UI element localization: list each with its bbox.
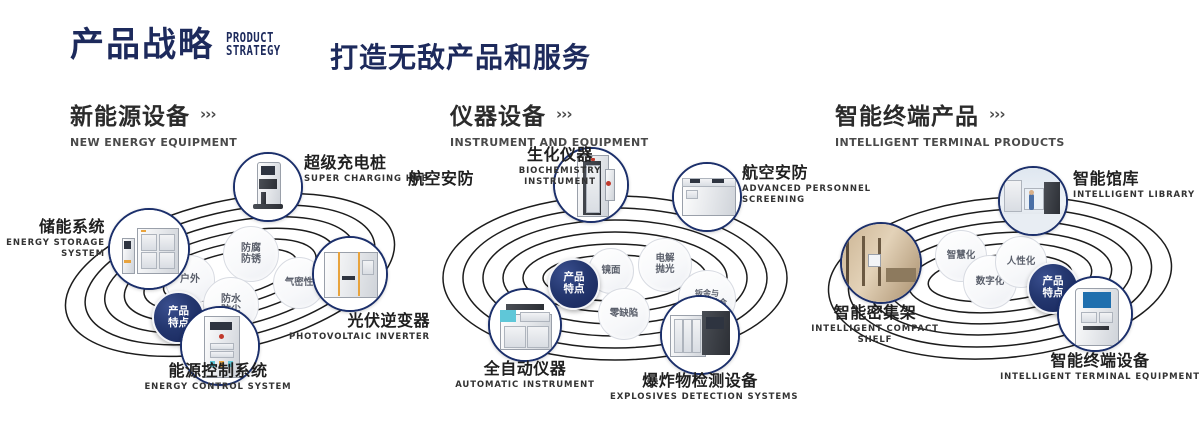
page-title-cn: 产品战略 <box>70 28 214 62</box>
section-title-cn: 智能终端产品 ››› <box>835 97 1065 131</box>
chevron-right-icon: ››› <box>200 105 216 123</box>
energy-storage-cabinet-icon <box>110 210 188 288</box>
feature-bubble-anticorrosion: 防腐 防锈 <box>223 226 279 282</box>
node-photovoltaic-inverter[interactable] <box>312 236 388 312</box>
page-title-en-line2: STRATEGY <box>226 45 281 58</box>
charging-pile-icon <box>235 154 301 220</box>
section-title-instrument: 仪器设备 ››› INSTRUMENT AND EQUIPMENT <box>450 97 649 149</box>
smart-library-icon <box>1000 168 1066 234</box>
node-automatic-instrument[interactable] <box>488 288 562 362</box>
page-title-en: PRODUCT STRATEGY <box>226 32 281 58</box>
self-service-kiosk-icon <box>1059 278 1131 350</box>
node-energy-storage-system[interactable] <box>108 208 190 290</box>
node-intelligent-compact-shelf[interactable] <box>840 222 922 304</box>
node-super-charging-hub[interactable] <box>233 152 303 222</box>
section-title-en: NEW ENERGY EQUIPMENT <box>70 136 237 149</box>
section-title-cn: 仪器设备 ››› <box>450 97 649 131</box>
chevron-right-icon: ››› <box>989 105 1005 123</box>
feature-bubble-zero-defect: 零缺陷 <box>598 288 650 340</box>
node-label-intelligent-terminal-equipment: 智能终端设备 INTELLIGENT TERMINAL EQUIPMENT <box>995 352 1200 383</box>
node-label-photovoltaic-inverter: 光伏逆变器 PHOTOVOLTAIC INVERTER <box>270 312 430 343</box>
cluster-new-energy: 户外 防腐 防锈 防水 防尘 气密性 产品 特点 <box>40 150 420 400</box>
cluster-intelligent-terminal: 智慧化 数字化 人性化 产品 特点 智能馆库 <box>805 150 1195 400</box>
node-label-energy-control-system: 能源控制系统 ENERGY CONTROL SYSTEM <box>80 362 356 393</box>
section-title-intelligent-terminal: 智能终端产品 ››› INTELLIGENT TERMINAL PRODUCTS <box>835 97 1065 149</box>
section-title-cn: 新能源设备 ››› <box>70 97 237 131</box>
automatic-instrument-icon <box>490 290 560 360</box>
node-label-explosives-detection-systems: 爆炸物检测设备 EXPLOSIVES DETECTION SYSTEMS <box>610 372 790 403</box>
chevron-right-icon: ››› <box>556 105 572 123</box>
explosives-detector-icon <box>662 297 738 373</box>
node-intelligent-terminal-equipment[interactable] <box>1057 276 1133 352</box>
node-advanced-personnel-screening[interactable] <box>672 162 742 232</box>
cluster-instrument: 镜面 电解 抛光 零缺陷 钣金与 机加工结合 产品 特点 航空安防 <box>420 150 810 400</box>
product-strategy-infographic: 产品战略 PRODUCT STRATEGY 打造无敌产品和服务 新能源设备 ››… <box>0 0 1200 422</box>
node-label-automatic-instrument: 全自动仪器 AUTOMATIC INSTRUMENT <box>430 360 620 391</box>
node-intelligent-library[interactable] <box>998 166 1068 236</box>
node-label-intelligent-compact-shelf: 智能密集架 INTELLIGENT COMPACT SHELF <box>770 304 980 345</box>
node-explosives-detection-systems[interactable] <box>660 295 740 375</box>
compact-shelf-icon <box>842 224 920 302</box>
node-label-biochemistry-instrument: 生化仪器 BIOCHEMISTRY INSTRUMENT <box>475 146 645 187</box>
screening-machine-icon <box>674 164 740 230</box>
section-title-new-energy: 新能源设备 ››› NEW ENERGY EQUIPMENT <box>70 97 237 149</box>
node-label-intelligent-library: 智能馆库 INTELLIGENT LIBRARY <box>1073 170 1200 201</box>
page-title: 产品战略 PRODUCT STRATEGY <box>70 28 293 62</box>
node-label-energy-storage-system: 储能系统 ENERGY STORAGE SYSTEM <box>5 218 105 259</box>
inverter-cabinet-icon <box>314 238 386 310</box>
section-title-en: INTELLIGENT TERMINAL PRODUCTS <box>835 136 1065 149</box>
page-subtitle: 打造无敌产品和服务 <box>330 36 591 76</box>
